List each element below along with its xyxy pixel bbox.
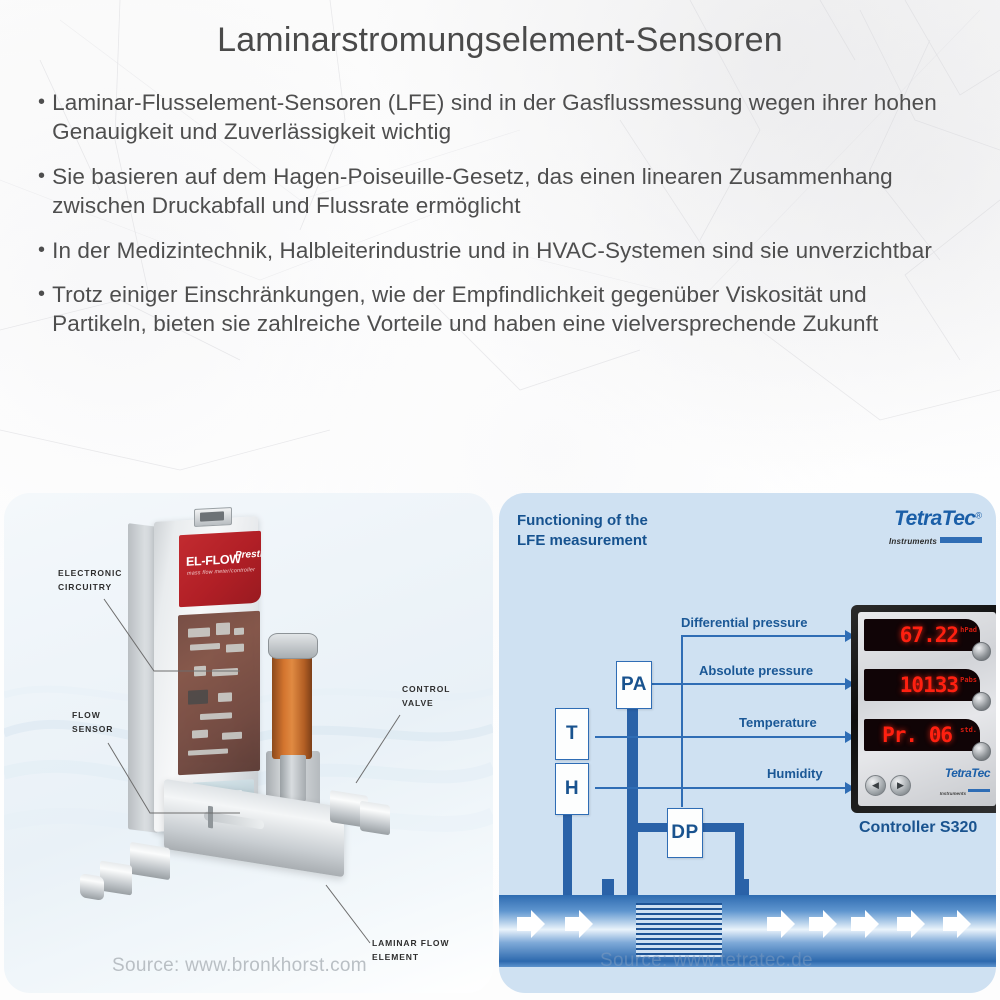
bullet-text: Trotz einiger Einschränkungen, wie der E…: [52, 281, 960, 339]
registered-mark: ®: [975, 511, 982, 521]
diagram-title-line-1: Functioning of the: [517, 511, 648, 531]
list-item: • Laminar-Flusselement-Sensoren (LFE) si…: [38, 89, 960, 147]
readout-value: Pr. 06: [882, 723, 952, 747]
bullet-marker: •: [38, 163, 45, 189]
bullet-marker: •: [38, 89, 45, 115]
readout-absolute-pressure: 10133 Pabs: [864, 669, 980, 701]
controller-logo-bar: [968, 789, 990, 792]
list-item: • Trotz einiger Einschränkungen, wie der…: [38, 281, 960, 339]
source-watermark-right: Source: www.tetratec.de: [600, 950, 813, 972]
signal-wire-dp: [681, 635, 849, 637]
controller-faceplate: 67.22 hPad 10133 Pabs Pr. 06 std. ◀ ▶ T: [858, 612, 996, 806]
signal-label-temperature: Temperature: [739, 715, 817, 730]
callout-leader-lines: [4, 493, 493, 993]
controller-logo-name: TetraTec: [945, 766, 990, 780]
signal-wire-dp-vert: [681, 635, 683, 807]
bullet-text: Sie basieren auf dem Hagen-Poiseuille-Ge…: [52, 163, 960, 221]
readout-value: 67.22: [900, 623, 958, 647]
bullet-text: Laminar-Flusselement-Sensoren (LFE) sind…: [52, 89, 960, 147]
controller-logo-tagline: Instruments: [940, 791, 966, 796]
signal-label-differential-pressure: Differential pressure: [681, 615, 807, 630]
bullet-marker: •: [38, 281, 45, 307]
diagram-title: Functioning of the LFE measurement: [517, 511, 648, 552]
slide-content: Laminarstromungselement-Sensoren • Lamin…: [0, 0, 1000, 339]
readout-differential-pressure: 67.22 hPad: [864, 619, 980, 651]
nav-next-button[interactable]: ▶: [890, 775, 911, 796]
bullet-text: In der Medizintechnik, Halbleiterindustr…: [52, 237, 960, 266]
signal-label-humidity: Humidity: [767, 766, 823, 781]
controller-s320[interactable]: 67.22 hPad 10133 Pabs Pr. 06 std. ◀ ▶ T: [851, 605, 996, 813]
diagram-title-line-2: LFE measurement: [517, 531, 648, 551]
knob-1[interactable]: [972, 642, 991, 661]
readout-unit: hPad: [960, 626, 977, 634]
tetratec-logo: TetraTec® Instruments: [889, 507, 982, 549]
knob-2[interactable]: [972, 692, 991, 711]
bullet-list: • Laminar-Flusselement-Sensoren (LFE) si…: [38, 89, 960, 339]
sensor-box-pa[interactable]: PA: [616, 661, 652, 709]
readout-unit: Pabs: [960, 676, 977, 684]
logo-bar: [940, 537, 982, 543]
controller-caption: Controller S320: [859, 819, 977, 837]
readout-value: 10133: [900, 673, 958, 697]
signal-label-absolute-pressure: Absolute pressure: [699, 663, 813, 678]
signal-wire-pa: [647, 683, 849, 685]
knob-3[interactable]: [972, 742, 991, 761]
sensor-box-h[interactable]: H: [555, 763, 589, 815]
sensor-box-t[interactable]: T: [555, 708, 589, 760]
source-watermark-left: Source: www.bronkhorst.com: [112, 955, 367, 977]
signal-wire-t: [595, 736, 849, 738]
nav-prev-button[interactable]: ◀: [865, 775, 886, 796]
page-title: Laminarstromungselement-Sensoren: [0, 0, 1000, 59]
figure-bronkhorst-mass-flow-controller: EL-FLOW Prestige mass flow meter/control…: [4, 493, 493, 993]
signal-wire-h: [595, 787, 849, 789]
tetratec-logo-tagline: Instruments: [889, 537, 937, 546]
sensor-box-dp[interactable]: DP: [667, 808, 703, 858]
figure-row: EL-FLOW Prestige mass flow meter/control…: [0, 493, 1000, 1000]
controller-logo: TetraTec Instruments: [940, 764, 990, 800]
tetratec-logo-name: TetraTec: [894, 507, 975, 530]
readout-unit: std.: [960, 726, 977, 734]
bullet-marker: •: [38, 237, 45, 263]
figure-tetratec-lfe-diagram: Functioning of the LFE measurement Tetra…: [499, 493, 996, 993]
list-item: • Sie basieren auf dem Hagen-Poiseuille-…: [38, 163, 960, 221]
readout-mode: Pr. 06 std.: [864, 719, 980, 751]
list-item: • In der Medizintechnik, Halbleiterindus…: [38, 237, 960, 266]
laminar-flow-element-core: [636, 903, 722, 957]
